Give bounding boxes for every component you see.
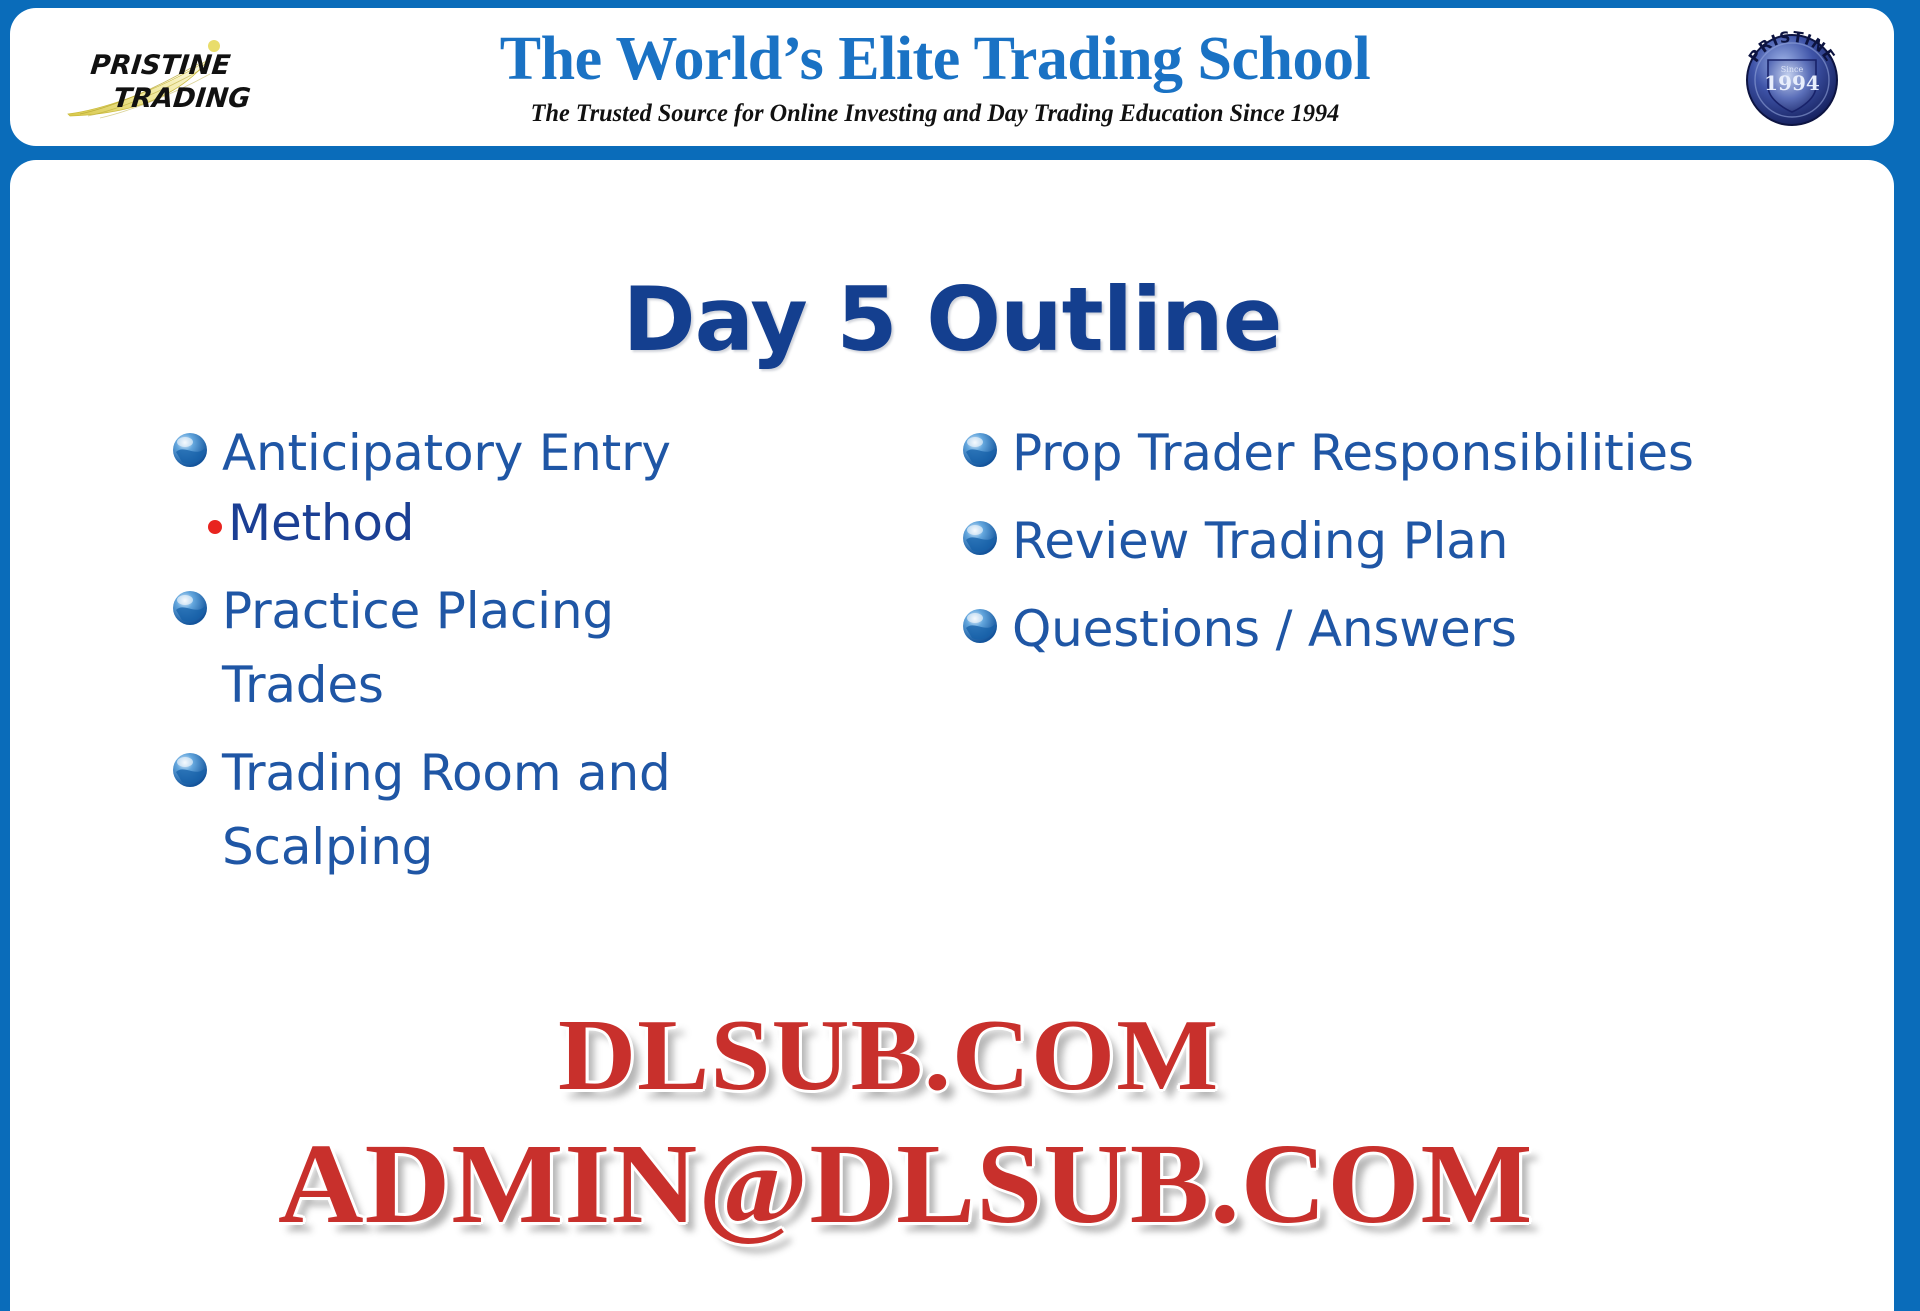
list-item-label: Practice Placing Trades — [222, 574, 782, 722]
pristine-trading-logo-icon: PRISTINE TRADING — [58, 34, 308, 122]
presentation-slide: PRISTINE TRADING The World’s Elite Tradi… — [0, 0, 1920, 1311]
outline-column-right: Prop Trader Responsibilities Review Trad… — [960, 416, 1790, 680]
sub-list-item[interactable]: Method — [170, 486, 890, 560]
list-item-label: Review Trading Plan — [1012, 504, 1508, 578]
list-item[interactable]: Trading Room and Scalping — [170, 736, 890, 884]
slide-heading: Day 5 Outline — [10, 270, 1894, 370]
blue-sphere-bullet-icon — [960, 606, 1000, 646]
list-item[interactable]: Review Trading Plan — [960, 504, 1790, 578]
logo-word-pristine: PRISTINE — [89, 50, 232, 81]
list-item[interactable]: Anticipatory Entry — [170, 416, 890, 490]
slide-body-panel: Day 5 Outline — [10, 160, 1894, 1311]
list-item-label: Anticipatory Entry — [222, 416, 671, 490]
logo-word-trading: TRADING — [112, 83, 253, 114]
list-item[interactable]: Practice Placing Trades — [170, 574, 890, 722]
blue-sphere-bullet-icon — [170, 430, 210, 470]
red-dot-bullet-icon — [208, 520, 222, 534]
watermark-dlsub-email: ADMIN@DLSUB.COM — [278, 1122, 1534, 1246]
pristine-trading-logo: PRISTINE TRADING — [58, 34, 308, 122]
blue-sphere-bullet-icon — [960, 518, 1000, 558]
list-item[interactable]: Prop Trader Responsibilities — [960, 416, 1790, 490]
blue-sphere-bullet-icon — [170, 588, 210, 628]
outline-column-left: Anticipatory Entry Method Practice Pla — [170, 416, 890, 898]
header-title-block: The World’s Elite Trading School The Tru… — [340, 20, 1530, 130]
list-item-label: Trading Room and Scalping — [222, 736, 782, 884]
site-title: The World’s Elite Trading School — [340, 20, 1530, 98]
header-panel: PRISTINE TRADING The World’s Elite Tradi… — [10, 8, 1894, 146]
list-item-label: Questions / Answers — [1012, 592, 1517, 666]
blue-sphere-bullet-icon — [170, 750, 210, 790]
site-tagline: The Trusted Source for Online Investing … — [358, 98, 1512, 130]
sub-list-item-label: Method — [228, 486, 414, 560]
blue-sphere-bullet-icon — [960, 430, 1000, 470]
seal-icon: Since 1994 PRISTINE — [1734, 20, 1850, 136]
seal-year: 1994 — [1764, 71, 1820, 95]
list-item[interactable]: Questions / Answers — [960, 592, 1790, 666]
outline-columns: Anticipatory Entry Method Practice Pla — [10, 416, 1894, 836]
list-item-label: Prop Trader Responsibilities — [1012, 416, 1694, 490]
pristine-since-1994-seal: Since 1994 PRISTINE — [1734, 20, 1850, 136]
watermark-dlsub-domain: DLSUB.COM — [558, 1000, 1219, 1112]
